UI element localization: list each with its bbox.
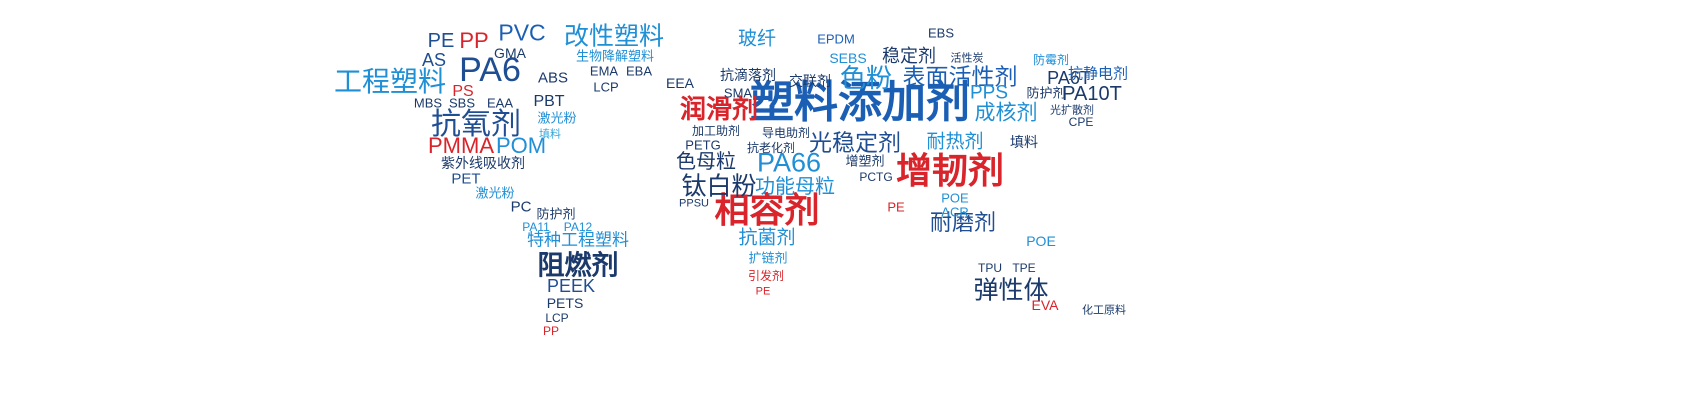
wordcloud-word[interactable]: 填料 [539,129,561,140]
wordcloud-word[interactable]: 导电助剂 [762,127,810,139]
wordcloud-word[interactable]: 紫外线吸收剂 [441,157,525,171]
wordcloud-word[interactable]: PETG [685,139,720,152]
wordcloud-word[interactable]: 改性塑料 [564,24,664,49]
wordcloud-word[interactable]: ACR [941,206,968,219]
wordcloud-word[interactable]: AS [422,51,446,69]
wordcloud-word[interactable]: 稳定剂 [882,48,936,66]
wordcloud-word[interactable]: CPE [1069,116,1094,128]
wordcloud-word[interactable]: EMA [590,65,618,78]
wordcloud-word[interactable]: PMMA [428,135,494,157]
wordcloud-word[interactable]: 交联剂 [789,75,831,89]
wordcloud-word[interactable]: SBS [449,97,475,110]
wordcloud-word[interactable]: 抗滴落剂 [720,69,776,83]
wordcloud-word[interactable]: 功能母粒 [755,176,835,196]
wordcloud-word[interactable]: 光稳定剂 [809,133,901,156]
wordcloud-word[interactable]: 防霉剂 [1033,54,1069,66]
wordcloud-word[interactable]: PEEK [547,277,595,295]
wordcloud-word[interactable]: PCTG [859,171,892,183]
wordcloud-canvas: 塑料添加剂增韧剂相容剂工程塑料抗氧剂阻燃剂PA6改性塑料润滑剂色粉表面活性剂光稳… [0,0,1707,400]
wordcloud-word[interactable]: PE [428,31,455,51]
wordcloud-word[interactable]: 加工助剂 [692,125,740,137]
wordcloud-word[interactable]: EAA [487,97,513,110]
wordcloud-word[interactable]: 生物降解塑料 [576,51,654,64]
wordcloud-word[interactable]: 抗静电剂 [1068,67,1128,82]
wordcloud-word[interactable]: 耐热剂 [926,133,983,152]
wordcloud-word[interactable]: POE [941,192,968,205]
wordcloud-word[interactable]: EEA [666,76,694,90]
wordcloud-word[interactable]: 扩链剂 [748,253,787,266]
wordcloud-word[interactable]: ABS [538,71,568,86]
wordcloud-word[interactable]: 增韧剂 [896,154,1004,190]
wordcloud-word[interactable]: PE [887,201,904,214]
wordcloud-word[interactable]: PE [756,287,771,298]
wordcloud-word[interactable]: 色母粒 [676,151,736,171]
wordcloud-word[interactable]: LCP [593,81,618,94]
wordcloud-word[interactable]: 活性炭 [951,53,984,64]
wordcloud-word[interactable]: PC [511,200,532,215]
wordcloud-word[interactable]: 防护剂 [1026,88,1065,101]
wordcloud-word[interactable]: 特种工程塑料 [527,233,629,250]
wordcloud-word[interactable]: 激光粉 [537,113,576,126]
wordcloud-word[interactable]: 成核剂 [975,103,1038,124]
wordcloud-word[interactable]: PP [543,325,559,337]
wordcloud-word[interactable]: PVC [498,22,545,45]
wordcloud-word[interactable]: SMA [724,87,752,100]
wordcloud-word[interactable]: PPSU [679,199,709,210]
wordcloud-word[interactable]: SEBS [829,51,866,65]
wordcloud-word[interactable]: 抗菌剂 [738,229,795,248]
wordcloud-word[interactable]: 工程塑料 [334,68,446,96]
wordcloud-word[interactable]: 色粉 [840,66,892,92]
wordcloud-word[interactable]: 化工原料 [1082,305,1126,316]
wordcloud-word[interactable]: EBA [626,65,652,78]
wordcloud-word[interactable]: PET [451,172,480,187]
wordcloud-word[interactable]: GMA [494,46,526,60]
wordcloud-word[interactable]: PETS [547,296,584,310]
wordcloud-word[interactable]: PPS [970,84,1008,103]
wordcloud-word[interactable]: LCP [545,312,568,324]
wordcloud-word[interactable]: EBS [928,27,954,40]
wordcloud-word[interactable]: PA11 [522,221,550,233]
wordcloud-word[interactable]: 激光粉 [475,188,514,201]
wordcloud-word[interactable]: EVA [1032,298,1059,312]
wordcloud-word[interactable]: 抗老化剂 [747,142,795,154]
wordcloud-word[interactable]: EPDM [817,33,855,46]
wordcloud-word[interactable]: 钛白粉 [681,174,756,199]
wordcloud-word[interactable]: POE [1026,234,1056,248]
wordcloud-word[interactable]: MBS [414,97,442,110]
wordcloud-word[interactable]: TPU [978,262,1002,274]
wordcloud-word[interactable]: PA12 [564,221,592,233]
wordcloud-word[interactable]: 填料 [1010,136,1038,150]
wordcloud-word[interactable]: 光扩散剂 [1050,105,1094,116]
wordcloud-word[interactable]: PP [459,30,488,52]
wordcloud-word[interactable]: TPE [1012,262,1035,274]
wordcloud-word[interactable]: 润滑剂 [680,97,758,123]
wordcloud-word[interactable]: PBT [533,94,564,110]
wordcloud-word[interactable]: 玻纤 [738,30,776,49]
wordcloud-word[interactable]: 增塑剂 [845,156,884,169]
wordcloud-word[interactable]: 引发剂 [748,270,784,282]
